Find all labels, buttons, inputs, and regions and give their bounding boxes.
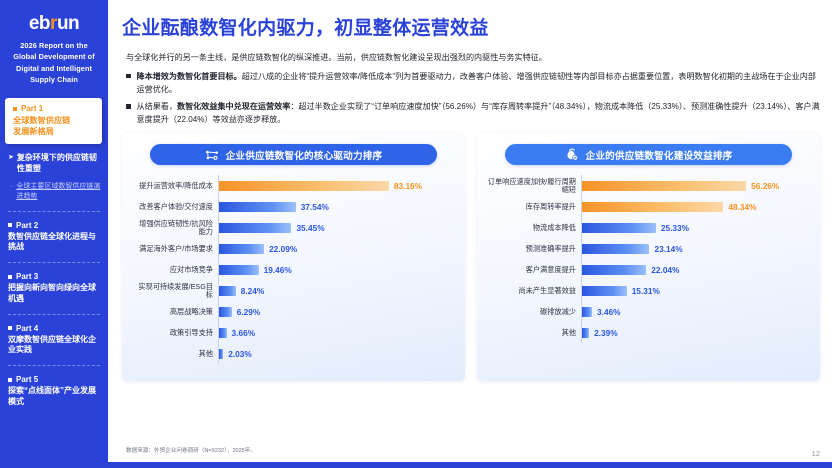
bar-label: 满足海外客户/市场要求	[132, 245, 218, 253]
sidebar-divider-2	[8, 262, 100, 263]
bar-row: 其他 2.39%	[487, 322, 810, 343]
chart-card-drivers: 企业供应链数智化的核心驱动力排序 提升运营效率/降低成本 83.16% 改善客户…	[122, 133, 465, 381]
bar-row: 物流成本降低 25.33%	[487, 217, 810, 238]
bar-value: 6.29%	[237, 307, 261, 317]
bullet-1-bold: 降本增效为数智化首要目标。	[137, 72, 242, 81]
bar-fill	[219, 181, 389, 191]
sidebar-item-part-2[interactable]: Part 2 数智供应链全球化进程与挑战	[0, 221, 108, 254]
bar-value: 3.46%	[597, 307, 621, 317]
bar-track: 19.46%	[218, 259, 455, 280]
square-bullet-icon	[8, 326, 12, 330]
bar-track: 22.09%	[218, 238, 455, 259]
bar-fill	[219, 244, 264, 254]
bar-track: 48.34%	[581, 196, 810, 217]
bar-track: 3.66%	[218, 322, 455, 343]
chevron-right-icon: ➤	[8, 153, 14, 175]
bar-value: 8.24%	[241, 286, 265, 296]
bar-value: 15.31%	[632, 286, 660, 296]
report-title: 2026 Report on the Global Development of…	[0, 40, 108, 85]
bar-value: 3.66%	[232, 328, 256, 338]
bar-label: 预测准确率提升	[487, 245, 581, 253]
bullet-item-2: 从结果看，数智化效益集中兑现在运营效率：超过半数企业实现了“订单响应速度加快”（…	[126, 100, 820, 126]
bar-fill	[219, 349, 223, 359]
square-bullet-icon	[8, 223, 12, 227]
sidebar-divider-3	[8, 314, 100, 315]
bar-fill	[582, 202, 723, 212]
bar-value: 22.09%	[269, 244, 297, 254]
lead-paragraph: 与全球化并行的另一条主线，是供应链数智化的纵深推进。当前，供应链数智化建设呈现出…	[126, 52, 820, 64]
bar-fill	[219, 328, 227, 338]
sidebar-divider-1	[8, 211, 100, 212]
bar-fill	[219, 286, 236, 296]
bar-track: 37.54%	[218, 196, 455, 217]
sidebar-sub-head-label: 复杂环境下的供应链韧性重塑	[17, 153, 102, 175]
part-5-number: Part 5	[16, 375, 38, 384]
bar-list-benefits: 订单响应速度加快/履行周期缩短 56.26% 库存周转率提升 48.34%	[487, 175, 810, 343]
bar-value: 22.04%	[651, 265, 679, 275]
bar-fill	[582, 286, 627, 296]
bar-fill	[582, 244, 649, 254]
square-bullet-icon	[13, 107, 17, 111]
bullet-2-bold: 数智化效益集中兑现在运营效率	[177, 102, 290, 111]
bar-row: 提升运营效率/降低成本 83.16%	[132, 175, 455, 196]
part-1-number: Part 1	[21, 104, 43, 113]
part-4-number-row: Part 4	[8, 324, 102, 333]
network-nodes-icon	[205, 149, 219, 161]
chart-title-benefits: 企业的供应链数智化建设效益排序	[586, 148, 733, 162]
bar-value: 48.34%	[728, 202, 756, 212]
sidebar-item-part-5[interactable]: Part 5 探索“点线面体”产业发展模式	[0, 375, 108, 408]
part-4-title: 双摩数智供应链全球化企业实践	[8, 335, 102, 357]
dot-bullet-icon: ·	[10, 182, 12, 202]
bar-row: 预测准确率提升 23.14%	[487, 238, 810, 259]
brand-logo: ebrun	[0, 14, 108, 33]
bar-list-drivers: 提升运营效率/降低成本 83.16% 改善客户体验/交付速度 37.54%	[132, 175, 455, 364]
bar-track: 8.24%	[218, 280, 455, 301]
bar-row: 订单响应速度加快/履行周期缩短 56.26%	[487, 175, 810, 196]
logo-accent-letter: r	[50, 13, 57, 34]
bar-label: 客户满意度提升	[487, 266, 581, 274]
bullet-item-1: 降本增效为数智化首要目标。超过八成的企业将“提升运营效率/降低成本”列为首要驱动…	[126, 70, 820, 96]
logo-part-2: un	[57, 13, 79, 34]
main-content: 企业酝酿数智化内驱力，初显整体运营效益 与全球化并行的另一条主线，是供应链数智化…	[108, 0, 832, 468]
money-bag-icon	[565, 148, 579, 161]
bar-row: 满足海外客户/市场要求 22.09%	[132, 238, 455, 259]
logo-part-1: eb	[29, 13, 50, 34]
bar-fill	[219, 307, 232, 317]
bullet-1-text: 降本增效为数智化首要目标。超过八成的企业将“提升运营效率/降低成本”列为首要驱动…	[137, 70, 821, 96]
bar-fill	[582, 328, 589, 338]
bar-row: 应对市场竞争 19.46%	[132, 259, 455, 280]
bar-row: 政策引导支持 3.66%	[132, 322, 455, 343]
bar-track: 35.45%	[218, 217, 455, 238]
bar-value: 23.14%	[654, 244, 682, 254]
bullet-2-lead: 从结果看，	[137, 102, 177, 111]
bar-label: 订单响应速度加快/履行周期缩短	[487, 178, 581, 195]
sidebar-item-part-3[interactable]: Part 3 把握向新向智向绿向全球机遇	[0, 272, 108, 305]
bar-label: 提升运营效率/降低成本	[132, 182, 218, 190]
bar-row: 碳排放减少 3.46%	[487, 301, 810, 322]
bar-fill	[219, 265, 259, 275]
bar-fill	[219, 202, 296, 212]
source-note: 数据来源：外贸企业问卷调研（N=9232），2025年。	[126, 446, 256, 454]
bar-label: 应对市场竞争	[132, 266, 218, 274]
bar-row: 改善客户体验/交付速度 37.54%	[132, 196, 455, 217]
bar-value: 2.39%	[594, 328, 618, 338]
bar-track: 25.33%	[581, 217, 810, 238]
bar-track: 2.03%	[218, 343, 455, 364]
sidebar-sub-item[interactable]: · 全球主要区域数智供应链演进趋势	[8, 182, 102, 202]
sidebar: ebrun 2026 Report on the Global Developm…	[0, 0, 108, 468]
bar-track: 2.39%	[581, 322, 810, 343]
bar-value: 56.26%	[751, 181, 779, 191]
bar-label: 库存周转率提升	[487, 203, 581, 211]
chart-card-benefits: 企业的供应链数智化建设效益排序 订单响应速度加快/履行周期缩短 56.26% 库…	[477, 133, 820, 381]
bar-fill	[582, 265, 646, 275]
bar-row: 增强供应链韧性/抗风险能力 35.45%	[132, 217, 455, 238]
part-5-title: 探索“点线面体”产业发展模式	[8, 386, 102, 408]
part-1-number-row: Part 1	[13, 104, 96, 113]
bottom-accent-bar	[0, 462, 832, 468]
sidebar-sub-head[interactable]: ➤ 复杂环境下的供应链韧性重塑	[8, 153, 102, 175]
slide-root: ebrun 2026 Report on the Global Developm…	[0, 0, 832, 468]
bar-row: 实现可持续发展/ESG目标 8.24%	[132, 280, 455, 301]
sidebar-item-part-1[interactable]: Part 1 全球数智供应链 发展新格局	[5, 98, 102, 144]
bar-value: 25.33%	[661, 223, 689, 233]
bar-track: 15.31%	[581, 280, 810, 301]
body-copy: 与全球化并行的另一条主线，是供应链数智化的纵深推进。当前，供应链数智化建设呈现出…	[122, 52, 820, 127]
bar-label: 其他	[132, 350, 218, 358]
page-title: 企业酝酿数智化内驱力，初显整体运营效益	[122, 18, 820, 41]
square-bullet-icon	[8, 275, 12, 279]
sidebar-sub-item-label: 全球主要区域数智供应链演进趋势	[16, 182, 102, 202]
bar-fill	[219, 223, 291, 233]
bar-track: 83.16%	[218, 175, 455, 196]
bar-track: 56.26%	[581, 175, 810, 196]
bar-track: 23.14%	[581, 238, 810, 259]
part-3-number-row: Part 3	[8, 272, 102, 281]
bar-label: 高层战略决策	[132, 308, 218, 316]
part-2-number: Part 2	[16, 221, 38, 230]
bar-label: 增强供应链韧性/抗风险能力	[132, 220, 218, 237]
bar-track: 3.46%	[581, 301, 810, 322]
square-bullet-icon	[126, 104, 131, 109]
part-3-number: Part 3	[16, 272, 38, 281]
bar-value: 19.46%	[264, 265, 292, 275]
square-bullet-icon	[8, 378, 12, 382]
bar-track: 6.29%	[218, 301, 455, 322]
bar-track: 22.04%	[581, 259, 810, 280]
chart-title-badge-drivers: 企业供应链数智化的核心驱动力排序	[150, 144, 437, 165]
sidebar-divider-4	[8, 365, 100, 366]
chart-title-badge-benefits: 企业的供应链数智化建设效益排序	[505, 144, 792, 165]
part-2-number-row: Part 2	[8, 221, 102, 230]
bar-row: 库存周转率提升 48.34%	[487, 196, 810, 217]
bar-label: 改善客户体验/交付速度	[132, 203, 218, 211]
part-1-title: 全球数智供应链 发展新格局	[13, 115, 96, 137]
bar-fill	[582, 181, 746, 191]
page-number: 12	[812, 449, 820, 458]
bar-value: 2.03%	[228, 349, 252, 359]
square-bullet-icon	[126, 74, 131, 79]
bar-row: 客户满意度提升 22.04%	[487, 259, 810, 280]
bar-row: 其他 2.03%	[132, 343, 455, 364]
bar-fill	[582, 223, 656, 233]
bar-label: 碳排放减少	[487, 308, 581, 316]
sidebar-subgroup: ➤ 复杂环境下的供应链韧性重塑 · 全球主要区域数智供应链演进趋势	[0, 153, 108, 201]
part-5-number-row: Part 5	[8, 375, 102, 384]
bar-label: 物流成本降低	[487, 224, 581, 232]
sidebar-item-part-4[interactable]: Part 4 双摩数智供应链全球化企业实践	[0, 324, 108, 357]
chart-title-drivers: 企业供应链数智化的核心驱动力排序	[226, 148, 383, 162]
part-2-title: 数智供应链全球化进程与挑战	[8, 232, 102, 254]
part-3-title: 把握向新向智向绿向全球机遇	[8, 283, 102, 305]
bar-label: 尚未产生显著效益	[487, 287, 581, 295]
bar-label: 政策引导支持	[132, 329, 218, 337]
bullet-2-text: 从结果看，数智化效益集中兑现在运营效率：超过半数企业实现了“订单响应速度加快”（…	[137, 100, 821, 126]
bar-fill	[582, 307, 592, 317]
charts-container: 企业供应链数智化的核心驱动力排序 提升运营效率/降低成本 83.16% 改善客户…	[122, 133, 820, 381]
bar-value: 37.54%	[301, 202, 329, 212]
part-4-number: Part 4	[16, 324, 38, 333]
bar-label: 实现可持续发展/ESG目标	[132, 283, 218, 300]
bar-row: 高层战略决策 6.29%	[132, 301, 455, 322]
bar-value: 83.16%	[394, 181, 422, 191]
bar-label: 其他	[487, 329, 581, 337]
bar-value: 35.45%	[296, 223, 324, 233]
bar-row: 尚未产生显著效益 15.31%	[487, 280, 810, 301]
